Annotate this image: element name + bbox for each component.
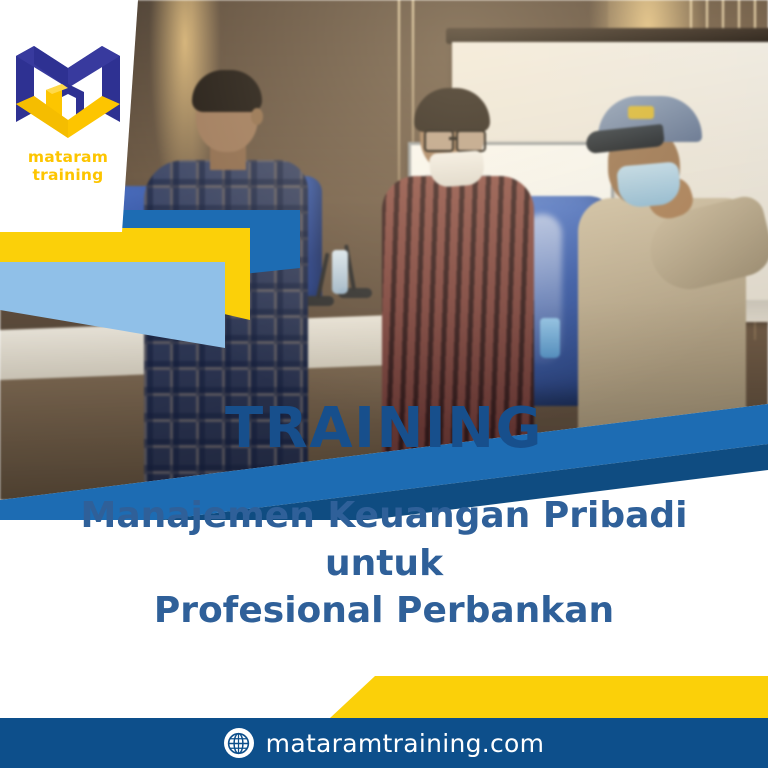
mataram-m-monogram-icon: [12, 40, 124, 144]
globe-icon: [224, 728, 254, 758]
website-url[interactable]: mataramtraining.com: [266, 729, 545, 758]
logo-wordmark: mataram training: [0, 148, 136, 184]
footer-bar: mataramtraining.com: [0, 718, 768, 768]
page-title: TRAINING: [0, 396, 768, 461]
training-flyer: mataram training TRAINING Manajemen Keua…: [0, 0, 768, 768]
page-subtitle-line1: Manajemen Keuangan Pribadi untuk: [40, 492, 728, 587]
page-subtitle-line2: Profesional Perbankan: [40, 587, 728, 635]
page-subtitle: Manajemen Keuangan Pribadi untuk Profesi…: [40, 492, 728, 635]
footer-yellow-accent: [0, 676, 768, 718]
